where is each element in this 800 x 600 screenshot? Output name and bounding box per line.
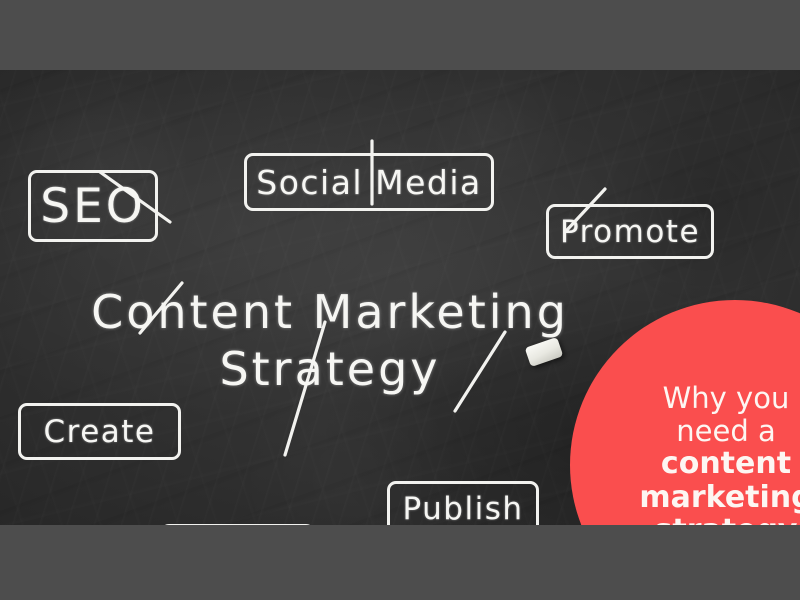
node-create[interactable]: Create	[18, 403, 181, 460]
node-social-media[interactable]: Social Media	[244, 153, 494, 211]
callout-text: Why you need a content marketing strateg…	[615, 382, 800, 525]
banner-image: Content Marketing Strategy SEO Social Me…	[0, 0, 800, 600]
node-publish[interactable]: Publish	[387, 481, 539, 525]
callout-line-2: need a	[615, 415, 800, 447]
letterbox-bottom	[0, 525, 800, 600]
chalkboard-background: Content Marketing Strategy SEO Social Me…	[0, 70, 800, 525]
callout-line-5: strategy	[615, 514, 800, 525]
node-promote-label: Promote	[560, 214, 700, 250]
letterbox-top	[0, 0, 800, 70]
node-seo-label: SEO	[40, 179, 146, 234]
callout-line-3: content	[615, 447, 800, 481]
node-create-label: Create	[43, 414, 155, 450]
node-social-media-label: Social Media	[256, 163, 481, 202]
node-publish-label: Publish	[403, 491, 524, 526]
node-promote[interactable]: Promote	[546, 204, 714, 259]
page-title-line1: Content Marketing	[20, 284, 640, 341]
callout-line-1: Why you	[615, 382, 800, 414]
callout-line-4: marketing	[615, 481, 800, 515]
node-seo[interactable]: SEO	[28, 170, 158, 242]
